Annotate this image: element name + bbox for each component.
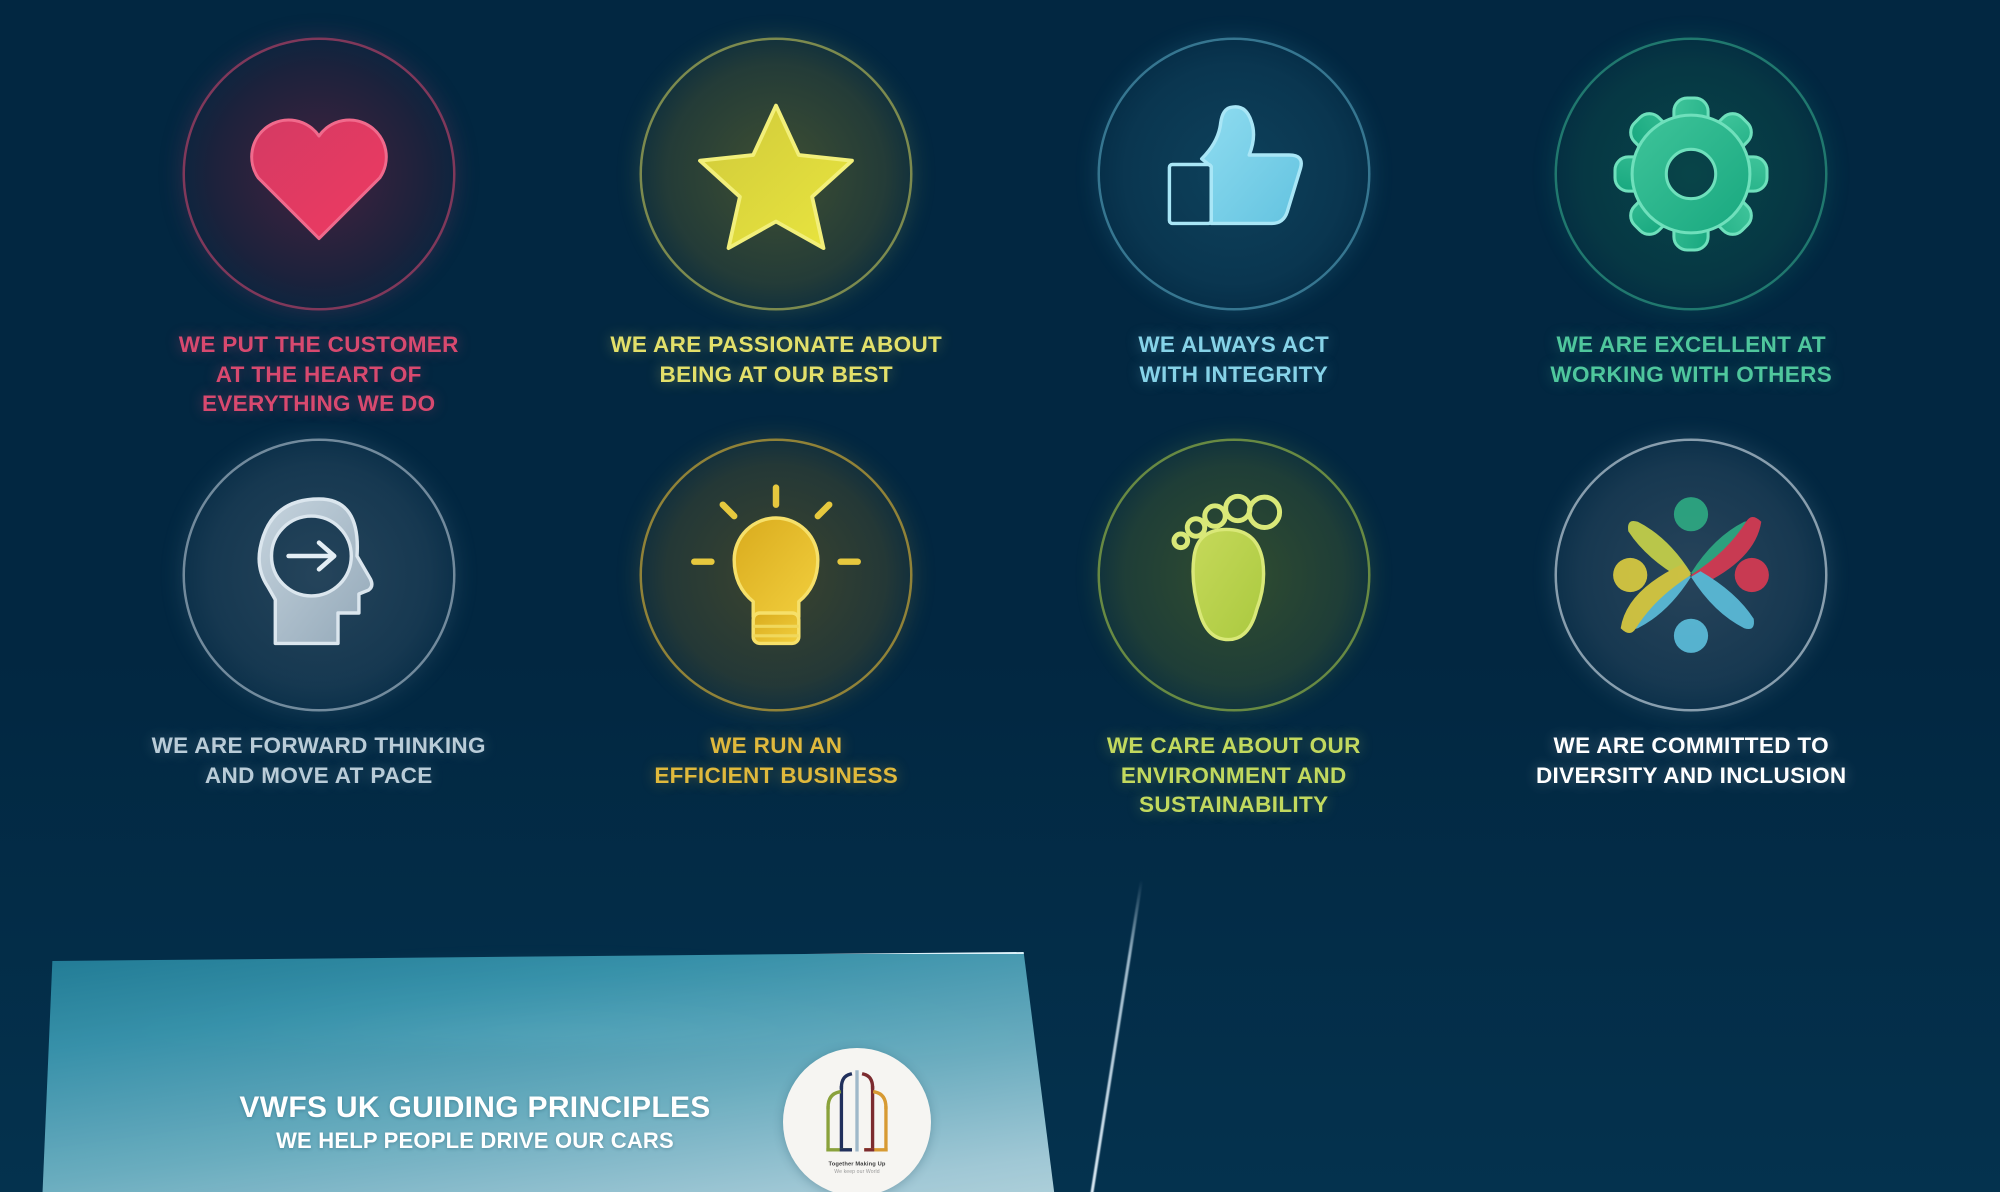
gear-badge — [1557, 40, 1825, 308]
lightbulb-icon — [681, 480, 871, 670]
diversity-people-icon — [1596, 480, 1786, 670]
principle-card-passionate[interactable]: WE ARE PASSIONATE ABOUT BEING AT OUR BES… — [548, 40, 1006, 419]
star-icon — [681, 79, 871, 269]
thumbs-up-badge — [1100, 40, 1368, 308]
principle-caption: WE ALWAYS ACT WITH INTEGRITY — [1138, 330, 1329, 389]
logo-tagline-line1: Together Making Up — [828, 1161, 885, 1167]
footprint-icon — [1139, 480, 1329, 670]
principle-caption: WE ARE FORWARD THINKING AND MOVE AT PACE — [152, 731, 486, 790]
principles-grid: WE PUT THE CUSTOMER AT THE HEART OF EVER… — [90, 40, 1920, 820]
principle-card-working-with-others[interactable]: WE ARE EXCELLENT AT WORKING WITH OTHERS — [1463, 40, 1921, 419]
heart-badge — [185, 40, 453, 308]
diversity-badge — [1557, 441, 1825, 709]
principle-card-diversity[interactable]: WE ARE COMMITTED TO DIVERSITY AND INCLUS… — [1463, 441, 1921, 820]
star-badge — [642, 40, 910, 308]
principle-card-environment[interactable]: WE CARE ABOUT OUR ENVIRONMENT AND SUSTAI… — [1005, 441, 1463, 820]
principles-poster: WE PUT THE CUSTOMER AT THE HEART OF EVER… — [0, 0, 2000, 1192]
principle-card-forward-thinking[interactable]: WE ARE FORWARD THINKING AND MOVE AT PACE — [90, 441, 548, 820]
gear-icon — [1596, 79, 1786, 269]
guiding-principles-banner[interactable]: VWFS UK GUIDING PRINCIPLES WE HELP PEOPL… — [40, 952, 1070, 1192]
banner-text-block: VWFS UK GUIDING PRINCIPLES WE HELP PEOPL… — [239, 1091, 710, 1154]
logo-mark-icon: Together Making Up We keep our World — [801, 1063, 913, 1181]
lightbulb-badge — [642, 441, 910, 709]
banner-title: VWFS UK GUIDING PRINCIPLES — [239, 1091, 710, 1124]
logo-tagline-line2: We keep our World — [834, 1169, 879, 1175]
principle-caption: WE ARE EXCELLENT AT WORKING WITH OTHERS — [1550, 330, 1832, 389]
footprint-badge — [1100, 441, 1368, 709]
head-arrow-icon — [224, 480, 414, 670]
head-arrow-badge — [185, 441, 453, 709]
principle-caption: WE PUT THE CUSTOMER AT THE HEART OF EVER… — [179, 330, 459, 419]
principle-card-efficient-business[interactable]: WE RUN AN EFFICIENT BUSINESS — [548, 441, 1006, 820]
banner-subtitle: WE HELP PEOPLE DRIVE OUR CARS — [239, 1128, 710, 1154]
principle-caption: WE ARE COMMITTED TO DIVERSITY AND INCLUS… — [1536, 731, 1847, 790]
principle-caption: WE RUN AN EFFICIENT BUSINESS — [654, 731, 898, 790]
panel-edge-light — [1073, 880, 1143, 1192]
thumbs-up-icon — [1139, 79, 1329, 269]
together-making-up-logo: Together Making Up We keep our World — [783, 1048, 931, 1192]
principle-card-customer[interactable]: WE PUT THE CUSTOMER AT THE HEART OF EVER… — [90, 40, 548, 419]
principle-caption: WE CARE ABOUT OUR ENVIRONMENT AND SUSTAI… — [1107, 731, 1361, 820]
heart-icon — [224, 79, 414, 269]
principle-card-integrity[interactable]: WE ALWAYS ACT WITH INTEGRITY — [1005, 40, 1463, 419]
principle-caption: WE ARE PASSIONATE ABOUT BEING AT OUR BES… — [610, 330, 942, 389]
banner-content: VWFS UK GUIDING PRINCIPLES WE HELP PEOPL… — [40, 1048, 1070, 1192]
